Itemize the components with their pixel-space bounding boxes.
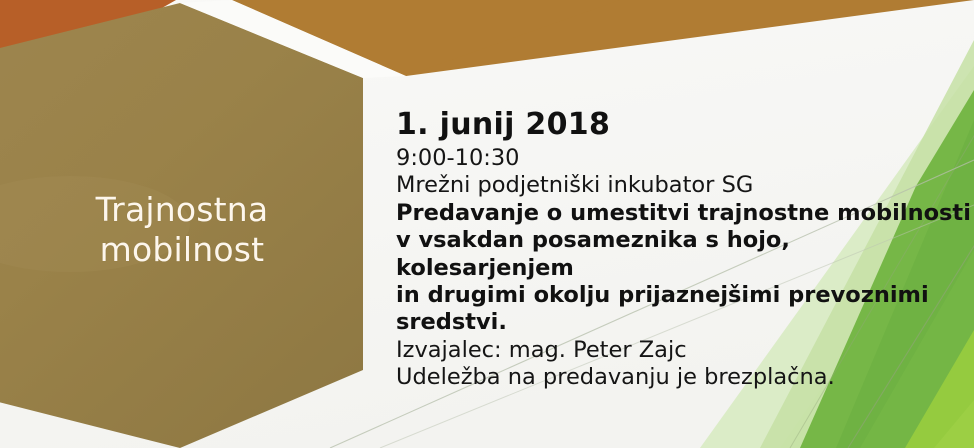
presentation-slide: Trajnostna mobilnost 1. junij 2018 9:00-… (0, 0, 974, 448)
event-time: 9:00-10:30 (396, 145, 971, 172)
event-date: 1. junij 2018 (396, 106, 971, 144)
event-details-block: 1. junij 2018 9:00-10:30 Mrežni podjetni… (396, 106, 971, 392)
event-description-line-3: in drugimi okolju prijaznejšimi prevozni… (396, 282, 971, 309)
event-presenter: Izvajalec: mag. Peter Zajc (396, 337, 971, 364)
event-description-line-4: sredstvi. (396, 309, 971, 336)
event-description-line-2: v vsakdan posameznika s hojo, kolesarjen… (396, 227, 971, 282)
event-free-admission-note: Udeležba na predavanju je brezplačna. (396, 364, 971, 391)
event-venue: Mrežni podjetniški inkubator SG (396, 172, 971, 199)
event-description-line-1: Predavanje o umestitvi trajnostne mobiln… (396, 200, 971, 227)
